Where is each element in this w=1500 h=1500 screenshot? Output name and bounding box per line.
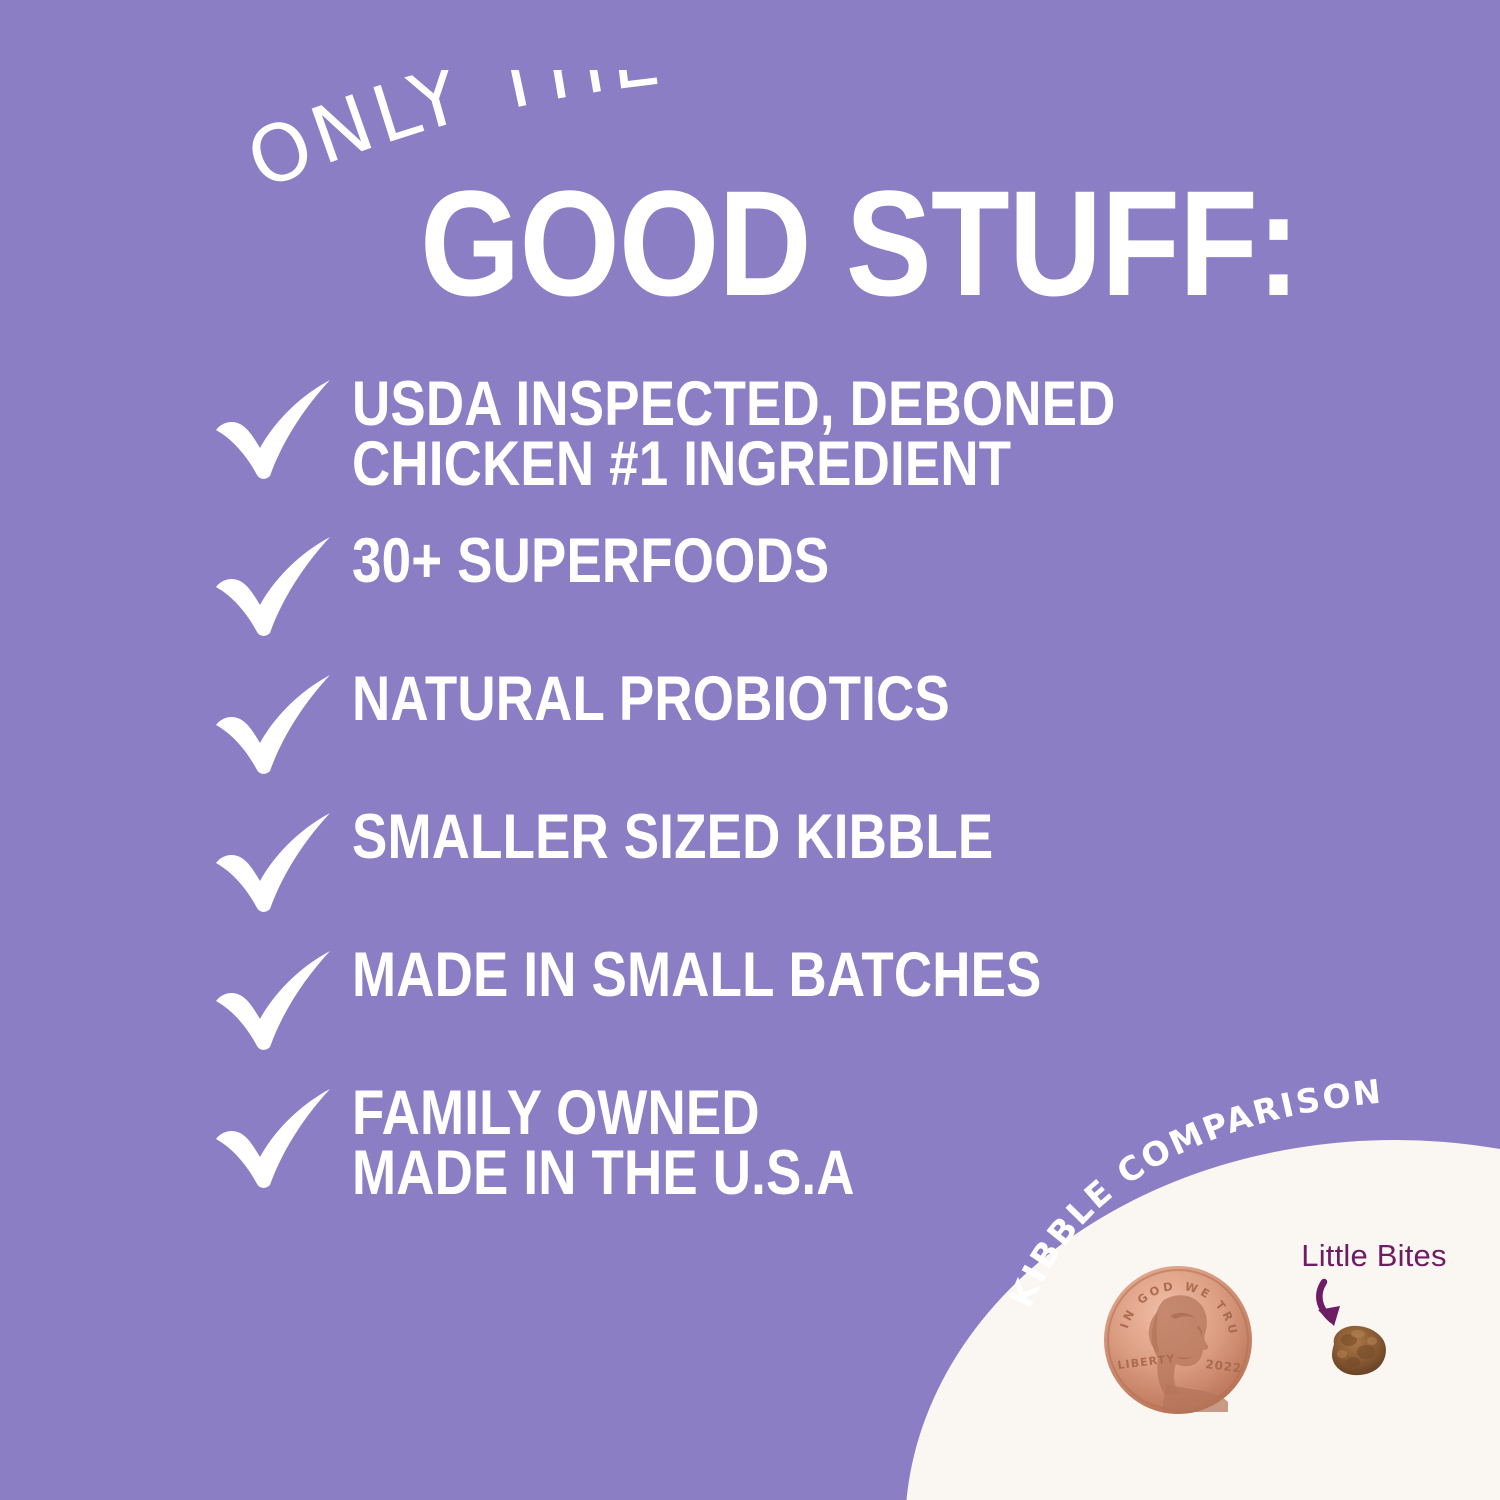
little-bites-callout-label: Little Bites [1284,1238,1464,1274]
checklist-item: 30+ SUPERFOODS [0,529,1270,639]
checklist-item: NATURAL PROBIOTICS [0,667,1270,777]
headline-line2: GOOD STUFF: [420,168,1320,328]
checkmark-icon [212,811,338,915]
checkmark-icon [212,673,338,777]
checkmark-icon [212,378,338,482]
checklist-item-label: USDA INSPECTED, DEBONED CHICKEN #1 INGRE… [352,372,1123,495]
checklist-item: MADE IN SMALL BATCHES [0,943,1270,1053]
checklist-item-label: 30+ SUPERFOODS [352,529,1123,591]
kibble-nugget-image [1325,1322,1391,1380]
checklist-item: USDA INSPECTED, DEBONED CHICKEN #1 INGRE… [0,372,1270,495]
checklist-item-label: NATURAL PROBIOTICS [352,667,1123,729]
kibble-comparison-section: KIBBLE COMPARISON [880,1060,1500,1500]
penny-coin-image: IN GOD WE TRUST LIBERTY 2022 [1102,1264,1254,1416]
checkmark-icon [212,1087,338,1191]
headline-block: ONLY THE GOOD STUFF: [0,0,1500,330]
product-feature-poster: ONLY THE GOOD STUFF: USDA INSPECTED, DEB… [0,0,1500,1500]
headline-line2-text: GOOD STUFF: [420,168,1194,318]
checklist-item-label: MADE IN SMALL BATCHES [352,943,1123,1005]
checkmark-icon [212,535,338,639]
checklist-item-label: SMALLER SIZED KIBBLE [352,805,1123,867]
checkmark-icon [212,949,338,1053]
checklist-item: SMALLER SIZED KIBBLE [0,805,1270,915]
